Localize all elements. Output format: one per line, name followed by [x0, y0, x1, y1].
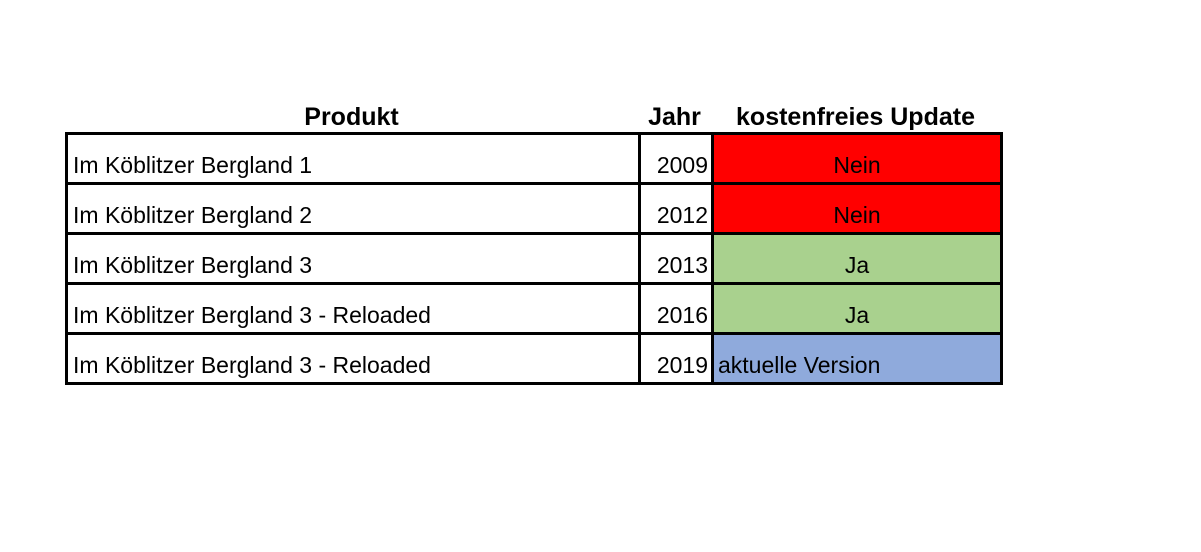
table-header-row: Produkt Jahr kostenfreies Update — [65, 98, 1000, 132]
cell-produkt: Im Köblitzer Bergland 3 — [67, 234, 640, 284]
cell-produkt: Im Köblitzer Bergland 3 - Reloaded — [67, 284, 640, 334]
cell-kostenfreies-update: Nein — [713, 134, 1002, 184]
cell-produkt: Im Köblitzer Bergland 3 - Reloaded — [67, 334, 640, 384]
column-header-kostenfreies-update: kostenfreies Update — [711, 102, 1000, 132]
table-row: Im Köblitzer Bergland 3 - Reloaded2019ak… — [67, 334, 1002, 384]
table-row: Im Köblitzer Bergland 32013Ja — [67, 234, 1002, 284]
cell-produkt: Im Köblitzer Bergland 2 — [67, 184, 640, 234]
product-version-table: Im Köblitzer Bergland 12009NeinIm Köblit… — [65, 132, 1003, 385]
column-header-produkt: Produkt — [65, 102, 638, 132]
cell-jahr: 2013 — [640, 234, 713, 284]
table-row: Im Köblitzer Bergland 12009Nein — [67, 134, 1002, 184]
cell-jahr: 2009 — [640, 134, 713, 184]
table-row: Im Köblitzer Bergland 22012Nein — [67, 184, 1002, 234]
table-row: Im Köblitzer Bergland 3 - Reloaded2016Ja — [67, 284, 1002, 334]
cell-jahr: 2016 — [640, 284, 713, 334]
cell-produkt: Im Köblitzer Bergland 1 — [67, 134, 640, 184]
column-header-jahr: Jahr — [638, 102, 711, 132]
cell-jahr: 2019 — [640, 334, 713, 384]
cell-kostenfreies-update: Ja — [713, 284, 1002, 334]
cell-kostenfreies-update: Nein — [713, 184, 1002, 234]
table-body: Im Köblitzer Bergland 12009NeinIm Köblit… — [67, 134, 1002, 384]
cell-kostenfreies-update: aktuelle Version — [713, 334, 1002, 384]
cell-jahr: 2012 — [640, 184, 713, 234]
cell-kostenfreies-update: Ja — [713, 234, 1002, 284]
